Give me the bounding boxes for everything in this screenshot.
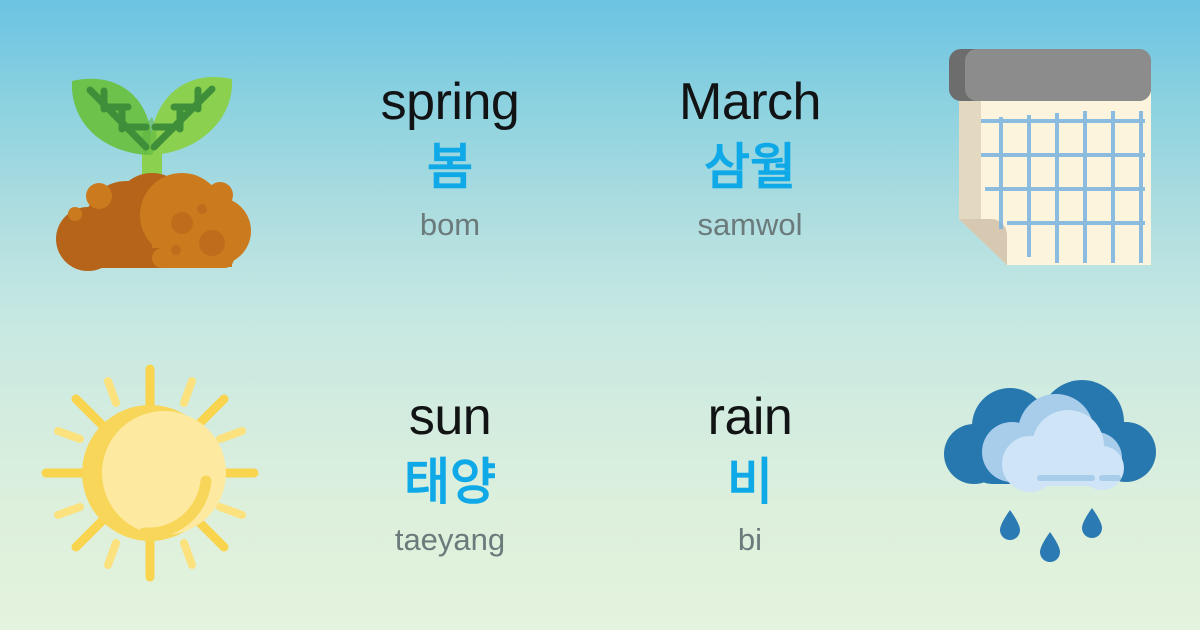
word-korean-spring: 봄 — [381, 142, 520, 192]
word-english-spring: spring — [381, 76, 520, 128]
flashcard-spring-text-cell: spring 봄 bom — [300, 0, 600, 315]
word-english-sun: sun — [395, 391, 505, 443]
word-romanization-spring: bom — [381, 209, 520, 240]
flashcard-rain-icon-cell — [900, 315, 1200, 630]
word-korean-rain: 비 — [708, 457, 793, 507]
word-card-spring[interactable]: spring 봄 bom — [381, 76, 520, 240]
word-romanization-march: samwol — [679, 209, 821, 240]
seedling-icon — [35, 33, 265, 283]
flashcard-sun-icon-cell — [0, 315, 300, 630]
flashcard-march-icon-cell — [900, 0, 1200, 315]
word-korean-sun: 태양 — [395, 457, 505, 507]
flashcard-sun-text-cell: sun 태양 taeyang — [300, 315, 600, 630]
calendar-icon — [935, 33, 1165, 283]
flashcard-row-top: spring 봄 bom March 삼월 samwol — [0, 0, 1200, 315]
word-romanization-rain: bi — [708, 524, 793, 555]
word-card-march[interactable]: March 삼월 samwol — [679, 76, 821, 240]
rain-cloud-icon — [935, 348, 1165, 598]
word-korean-march: 삼월 — [679, 142, 821, 192]
flashcard-march-text-cell: March 삼월 samwol — [600, 0, 900, 315]
flashcard-spring-icon-cell — [0, 0, 300, 315]
word-card-sun[interactable]: sun 태양 taeyang — [395, 391, 505, 555]
word-romanization-sun: taeyang — [395, 524, 505, 555]
flashcard-rain-text-cell: rain 비 bi — [600, 315, 900, 630]
word-card-rain[interactable]: rain 비 bi — [708, 391, 793, 555]
sun-icon — [35, 348, 265, 598]
word-english-rain: rain — [708, 391, 793, 443]
flashcard-row-bottom: sun 태양 taeyang rain 비 bi — [0, 315, 1200, 630]
flashcard-board: spring 봄 bom March 삼월 samwol — [0, 0, 1200, 630]
word-english-march: March — [679, 76, 821, 128]
